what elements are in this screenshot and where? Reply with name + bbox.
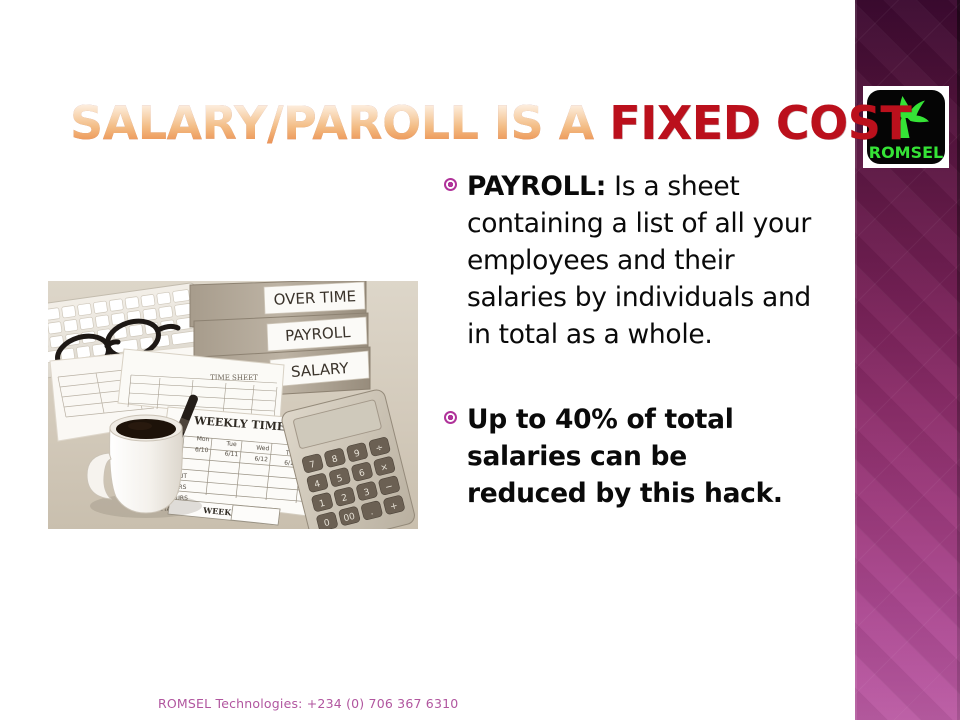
svg-text:Wed: Wed xyxy=(256,445,270,453)
svg-text:Tue: Tue xyxy=(225,440,237,448)
footer-contact: ROMSEL Technologies: +234 (0) 706 367 63… xyxy=(158,696,458,711)
body-content: PAYROLL: Is a sheet containing a list of… xyxy=(444,168,814,512)
svg-text:6/11: 6/11 xyxy=(224,450,238,458)
bullet-lead-1: PAYROLL: xyxy=(467,171,606,202)
list-item: PAYROLL: Is a sheet containing a list of… xyxy=(444,168,814,353)
slide-canvas: ROMSEL SALARY/PAROLL IS A FIXED COST xyxy=(0,0,960,720)
page-title: SALARY/PAROLL IS A FIXED COST xyxy=(70,96,830,152)
title-part-highlight: FIXED COST xyxy=(609,96,911,150)
svg-text:6/10: 6/10 xyxy=(195,446,209,454)
photo-illustration: OVER TIME PAYROLL SALARY TIME SHEET xyxy=(48,281,418,529)
svg-text:Mon: Mon xyxy=(196,435,209,443)
target-bullet-icon xyxy=(444,178,457,191)
target-bullet-icon xyxy=(444,411,457,424)
bullet-text-2: Up to 40% of total salaries can be reduc… xyxy=(467,401,814,512)
bullet-text-1: PAYROLL: Is a sheet containing a list of… xyxy=(467,168,814,353)
list-item: Up to 40% of total salaries can be reduc… xyxy=(444,401,814,512)
svg-text:OVER TIME: OVER TIME xyxy=(273,287,356,309)
title-part-gradient: SALARY/PAROLL IS A xyxy=(70,96,609,150)
payroll-desk-photo: OVER TIME PAYROLL SALARY TIME SHEET xyxy=(48,281,418,529)
svg-text:6/12: 6/12 xyxy=(254,455,268,463)
